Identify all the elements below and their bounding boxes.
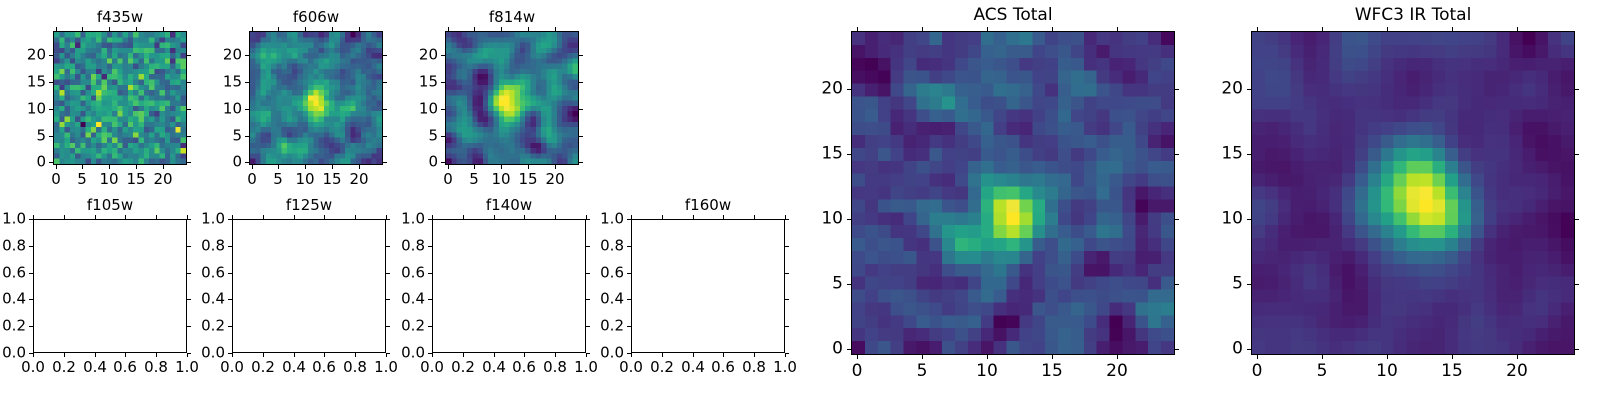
x-tick-mark	[693, 353, 694, 357]
figure-canvas: f435w0510152005101520 f606w0510152005101…	[0, 0, 1600, 400]
y-tick-mark-right	[187, 136, 191, 137]
y-tick-mark-right	[386, 273, 390, 274]
heatmap-image	[54, 32, 186, 164]
y-tick-mark-right	[785, 299, 789, 300]
x-tick-mark-top	[305, 27, 306, 31]
x-tick-mark-top	[232, 215, 233, 219]
x-tick-label: 10	[99, 172, 118, 187]
x-tick-mark-top	[64, 215, 65, 219]
y-tick-mark	[428, 326, 432, 327]
y-tick-mark-right	[1175, 154, 1179, 155]
y-tick-label: 0.8	[564, 239, 624, 254]
x-tick-mark	[156, 353, 157, 357]
y-tick-mark	[29, 353, 33, 354]
x-tick-mark-top	[1517, 27, 1518, 31]
x-tick-label: 10	[1376, 363, 1398, 380]
x-tick-label: 1.0	[574, 360, 598, 375]
y-tick-mark-right	[1175, 284, 1179, 285]
y-tick-mark-right	[785, 219, 789, 220]
y-tick-mark-right	[386, 219, 390, 220]
x-tick-label: 0.6	[312, 360, 336, 375]
x-tick-mark-top	[278, 27, 279, 31]
y-tick-mark-right	[383, 109, 387, 110]
y-tick-mark	[228, 326, 232, 327]
x-tick-label: 0.4	[83, 360, 107, 375]
x-tick-mark	[723, 353, 724, 357]
y-tick-mark	[1247, 219, 1251, 220]
x-tick-mark	[922, 355, 923, 359]
y-tick-mark-right	[187, 299, 191, 300]
panel-title: f105w	[33, 198, 187, 213]
x-tick-mark	[463, 353, 464, 357]
x-tick-mark	[125, 353, 126, 357]
y-tick-label: 0	[0, 155, 46, 170]
y-tick-mark	[428, 246, 432, 247]
x-tick-label: 0.2	[451, 360, 475, 375]
x-tick-mark	[501, 165, 502, 169]
y-tick-mark-right	[383, 82, 387, 83]
x-tick-mark-top	[494, 215, 495, 219]
x-tick-mark	[324, 353, 325, 357]
y-tick-mark-right	[1175, 89, 1179, 90]
x-tick-label: 0.0	[619, 360, 643, 375]
x-tick-mark	[163, 165, 164, 169]
y-tick-mark	[441, 109, 445, 110]
x-tick-mark	[33, 353, 34, 357]
y-tick-mark	[847, 154, 851, 155]
y-tick-mark	[627, 246, 631, 247]
y-tick-mark-right	[1575, 349, 1579, 350]
x-tick-mark-top	[474, 27, 475, 31]
y-tick-label: 5	[378, 129, 438, 144]
y-tick-mark	[29, 273, 33, 274]
y-tick-label: 20	[1183, 81, 1243, 98]
y-tick-mark	[627, 326, 631, 327]
y-tick-mark-right	[579, 82, 583, 83]
x-tick-mark-top	[463, 215, 464, 219]
y-tick-mark	[49, 162, 53, 163]
y-tick-mark	[49, 82, 53, 83]
y-tick-mark-right	[383, 162, 387, 163]
x-tick-label: 0.4	[681, 360, 705, 375]
panel-f160w: f160w0.00.20.40.60.81.00.00.20.40.60.81.…	[0, 0, 1600, 400]
y-tick-label: 15	[783, 146, 843, 163]
x-tick-mark-top	[163, 27, 164, 31]
y-tick-label: 0.2	[564, 319, 624, 334]
x-tick-mark-top	[56, 27, 57, 31]
x-tick-mark-top	[1257, 27, 1258, 31]
x-tick-mark	[187, 353, 188, 357]
heatmap-image	[446, 32, 578, 164]
x-tick-label: 1.0	[374, 360, 398, 375]
y-tick-mark	[245, 82, 249, 83]
y-tick-mark	[245, 162, 249, 163]
y-tick-label: 0.0	[165, 346, 225, 361]
y-tick-mark-right	[386, 299, 390, 300]
y-tick-mark-right	[785, 246, 789, 247]
x-tick-mark-top	[82, 27, 83, 31]
x-tick-label: 5	[1317, 363, 1328, 380]
y-tick-label: 20	[378, 48, 438, 63]
x-tick-label: 0.8	[543, 360, 567, 375]
y-tick-mark	[29, 219, 33, 220]
heatmap-image	[852, 32, 1174, 354]
x-tick-label: 5	[469, 172, 479, 187]
y-tick-mark	[1247, 154, 1251, 155]
y-tick-mark	[441, 82, 445, 83]
y-tick-mark-right	[187, 82, 191, 83]
x-tick-mark-top	[1052, 27, 1053, 31]
x-tick-mark-top	[324, 215, 325, 219]
x-tick-mark-top	[1117, 27, 1118, 31]
y-tick-mark-right	[579, 136, 583, 137]
x-tick-mark	[305, 165, 306, 169]
y-tick-mark-right	[187, 273, 191, 274]
y-tick-label: 10	[783, 211, 843, 228]
y-tick-label: 1.0	[165, 212, 225, 227]
x-tick-mark-top	[857, 27, 858, 31]
x-tick-mark-top	[263, 215, 264, 219]
y-tick-label: 10	[1183, 211, 1243, 228]
y-tick-label: 0	[1183, 341, 1243, 358]
y-tick-mark	[428, 299, 432, 300]
x-tick-mark	[82, 165, 83, 169]
y-tick-mark	[1247, 89, 1251, 90]
x-tick-mark-top	[448, 27, 449, 31]
y-tick-mark	[428, 219, 432, 220]
panel-title: ACS Total	[851, 7, 1175, 24]
x-tick-label: 0.4	[482, 360, 506, 375]
x-tick-mark-top	[555, 215, 556, 219]
y-tick-label: 0.8	[165, 239, 225, 254]
y-tick-label: 20	[783, 81, 843, 98]
x-tick-label: 15	[1041, 363, 1063, 380]
x-tick-mark	[1452, 355, 1453, 359]
x-tick-label: 1.0	[175, 360, 199, 375]
y-tick-mark-right	[187, 246, 191, 247]
x-tick-label: 0.2	[251, 360, 275, 375]
y-tick-label: 5	[182, 129, 242, 144]
x-tick-mark-top	[586, 215, 587, 219]
y-tick-label: 10	[378, 102, 438, 117]
x-tick-label: 20	[1506, 363, 1528, 380]
y-tick-label: 0	[783, 341, 843, 358]
y-tick-label: 20	[0, 48, 46, 63]
y-tick-mark-right	[187, 326, 191, 327]
x-tick-label: 0.8	[144, 360, 168, 375]
panel-f125w: f125w0.00.20.40.60.81.00.00.20.40.60.81.…	[0, 0, 1600, 400]
x-tick-mark	[524, 353, 525, 357]
x-tick-mark-top	[1452, 27, 1453, 31]
x-tick-label: 10	[295, 172, 314, 187]
x-tick-mark	[1387, 355, 1388, 359]
x-tick-mark-top	[386, 215, 387, 219]
y-tick-mark	[228, 246, 232, 247]
y-tick-mark-right	[586, 299, 590, 300]
x-tick-mark	[474, 165, 475, 169]
panel-wfc3-ir-total: WFC3 IR Total0510152005101520	[0, 0, 1600, 400]
x-tick-mark	[252, 165, 253, 169]
y-tick-mark	[847, 349, 851, 350]
y-tick-mark	[228, 273, 232, 274]
x-tick-label: 0.8	[742, 360, 766, 375]
x-tick-mark	[1052, 355, 1053, 359]
y-tick-mark-right	[187, 353, 191, 354]
y-tick-mark-right	[1575, 154, 1579, 155]
x-tick-mark	[555, 165, 556, 169]
y-tick-mark	[441, 136, 445, 137]
x-tick-mark	[432, 353, 433, 357]
axes-frame	[851, 31, 1175, 355]
y-tick-label: 0.4	[165, 292, 225, 307]
y-tick-mark-right	[579, 162, 583, 163]
y-tick-label: 0.0	[0, 346, 26, 361]
y-tick-label: 1.0	[365, 212, 425, 227]
y-tick-mark-right	[386, 353, 390, 354]
y-tick-label: 15	[0, 75, 46, 90]
y-tick-mark	[627, 353, 631, 354]
x-tick-mark-top	[754, 215, 755, 219]
y-tick-label: 15	[1183, 146, 1243, 163]
y-tick-mark-right	[187, 162, 191, 163]
y-tick-label: 10	[0, 102, 46, 117]
x-tick-label: 15	[322, 172, 341, 187]
y-tick-label: 0.8	[365, 239, 425, 254]
x-tick-label: 0	[51, 172, 61, 187]
y-tick-label: 0.2	[365, 319, 425, 334]
y-tick-mark-right	[1175, 349, 1179, 350]
x-tick-mark-top	[662, 215, 663, 219]
y-tick-label: 15	[182, 75, 242, 90]
x-tick-mark	[631, 353, 632, 357]
y-tick-mark	[228, 353, 232, 354]
axes-frame	[53, 31, 187, 165]
y-tick-mark	[228, 219, 232, 220]
y-tick-mark	[441, 162, 445, 163]
x-tick-label: 0.6	[113, 360, 137, 375]
y-tick-mark-right	[586, 219, 590, 220]
axes-frame	[33, 219, 187, 353]
panel-f105w: f105w0.00.20.40.60.81.00.00.20.40.60.81.…	[0, 0, 1600, 400]
y-tick-label: 0.0	[564, 346, 624, 361]
x-tick-mark-top	[156, 215, 157, 219]
y-tick-mark-right	[1575, 284, 1579, 285]
y-tick-mark	[49, 109, 53, 110]
panel-title: f125w	[232, 198, 386, 213]
y-tick-mark-right	[386, 246, 390, 247]
y-tick-mark	[847, 219, 851, 220]
panel-f435w: f435w0510152005101520	[0, 0, 1600, 400]
x-tick-label: 15	[518, 172, 537, 187]
x-tick-label: 20	[153, 172, 172, 187]
y-tick-label: 0.6	[0, 266, 26, 281]
x-tick-mark	[386, 353, 387, 357]
x-tick-mark-top	[109, 27, 110, 31]
y-tick-mark-right	[785, 353, 789, 354]
panel-title: f140w	[432, 198, 586, 213]
x-tick-mark-top	[631, 215, 632, 219]
x-tick-label: 0.0	[420, 360, 444, 375]
x-tick-label: 0.8	[343, 360, 367, 375]
y-tick-mark	[49, 55, 53, 56]
panel-title: f606w	[249, 10, 383, 25]
x-tick-mark-top	[33, 215, 34, 219]
axes-frame	[445, 31, 579, 165]
panel-f140w: f140w0.00.20.40.60.81.00.00.20.40.60.81.…	[0, 0, 1600, 400]
heatmap-image	[1252, 32, 1574, 354]
x-tick-label: 15	[1441, 363, 1463, 380]
x-tick-label: 0	[247, 172, 257, 187]
x-tick-mark	[555, 353, 556, 357]
x-tick-label: 1.0	[773, 360, 797, 375]
axes-frame	[1251, 31, 1575, 355]
x-tick-label: 0.2	[650, 360, 674, 375]
x-tick-mark	[232, 353, 233, 357]
y-tick-label: 10	[182, 102, 242, 117]
y-tick-mark	[1247, 284, 1251, 285]
x-tick-mark-top	[136, 27, 137, 31]
x-tick-mark-top	[524, 215, 525, 219]
y-tick-label: 15	[378, 75, 438, 90]
y-tick-mark-right	[383, 136, 387, 137]
x-tick-mark-top	[359, 27, 360, 31]
y-tick-mark-right	[586, 273, 590, 274]
y-tick-mark	[428, 353, 432, 354]
y-tick-label: 0.2	[165, 319, 225, 334]
x-tick-mark-top	[555, 27, 556, 31]
y-tick-mark	[245, 136, 249, 137]
y-tick-label: 0.6	[365, 266, 425, 281]
x-tick-label: 0.2	[52, 360, 76, 375]
x-tick-mark-top	[723, 215, 724, 219]
y-tick-mark-right	[586, 353, 590, 354]
y-tick-label: 0.8	[0, 239, 26, 254]
y-tick-mark	[29, 299, 33, 300]
x-tick-mark	[1257, 355, 1258, 359]
y-tick-mark	[428, 273, 432, 274]
x-tick-mark	[1517, 355, 1518, 359]
y-tick-mark	[627, 219, 631, 220]
x-tick-mark-top	[332, 27, 333, 31]
axes-frame	[432, 219, 586, 353]
x-tick-mark-top	[501, 27, 502, 31]
y-tick-label: 0.2	[0, 319, 26, 334]
x-tick-mark	[56, 165, 57, 169]
panel-acs-total: ACS Total0510152005101520	[0, 0, 1600, 400]
y-tick-mark	[245, 55, 249, 56]
y-tick-mark-right	[586, 326, 590, 327]
x-tick-mark	[109, 165, 110, 169]
x-tick-label: 15	[126, 172, 145, 187]
heatmap-image	[250, 32, 382, 164]
y-tick-label: 5	[783, 276, 843, 293]
y-tick-mark-right	[579, 109, 583, 110]
x-tick-mark	[857, 355, 858, 359]
y-tick-label: 20	[182, 48, 242, 63]
x-tick-mark	[586, 353, 587, 357]
y-tick-label: 0.0	[365, 346, 425, 361]
x-tick-mark	[64, 353, 65, 357]
x-tick-mark	[332, 165, 333, 169]
x-tick-mark	[1322, 355, 1323, 359]
x-tick-label: 20	[349, 172, 368, 187]
x-tick-mark-top	[95, 215, 96, 219]
y-tick-mark	[29, 326, 33, 327]
x-tick-label: 10	[976, 363, 998, 380]
y-tick-mark	[29, 246, 33, 247]
x-tick-mark-top	[432, 215, 433, 219]
x-tick-label: 5	[273, 172, 283, 187]
x-tick-label: 0.0	[220, 360, 244, 375]
y-tick-mark	[441, 55, 445, 56]
panel-title: f814w	[445, 10, 579, 25]
y-tick-mark	[627, 299, 631, 300]
y-tick-mark-right	[586, 246, 590, 247]
x-tick-label: 20	[545, 172, 564, 187]
x-tick-mark	[278, 165, 279, 169]
x-tick-mark	[294, 353, 295, 357]
y-tick-mark-right	[1175, 219, 1179, 220]
y-tick-label: 0.4	[365, 292, 425, 307]
x-tick-mark	[662, 353, 663, 357]
x-tick-mark	[95, 353, 96, 357]
x-tick-mark-top	[1322, 27, 1323, 31]
panel-title: f435w	[53, 10, 187, 25]
y-tick-label: 0.4	[564, 292, 624, 307]
x-tick-mark	[1117, 355, 1118, 359]
x-tick-mark-top	[187, 215, 188, 219]
y-tick-label: 0	[378, 155, 438, 170]
y-tick-label: 0.4	[0, 292, 26, 307]
y-tick-mark-right	[383, 55, 387, 56]
x-tick-mark	[355, 353, 356, 357]
x-tick-mark-top	[294, 215, 295, 219]
y-tick-mark-right	[1575, 89, 1579, 90]
y-tick-label: 1.0	[564, 212, 624, 227]
y-tick-mark	[1247, 349, 1251, 350]
panel-f814w: f814w0510152005101520	[0, 0, 1600, 400]
x-tick-label: 0	[1252, 363, 1263, 380]
y-tick-label: 1.0	[0, 212, 26, 227]
y-tick-mark-right	[785, 326, 789, 327]
axes-frame	[249, 31, 383, 165]
x-tick-mark-top	[987, 27, 988, 31]
y-tick-mark-right	[1575, 219, 1579, 220]
x-tick-label: 0	[443, 172, 453, 187]
y-tick-mark	[228, 299, 232, 300]
panel-title: f160w	[631, 198, 785, 213]
x-tick-mark	[263, 353, 264, 357]
x-tick-label: 10	[491, 172, 510, 187]
axes-frame	[631, 219, 785, 353]
x-tick-mark	[754, 353, 755, 357]
y-tick-label: 0.6	[564, 266, 624, 281]
x-tick-mark-top	[693, 215, 694, 219]
x-tick-label: 0.6	[512, 360, 536, 375]
x-tick-mark-top	[252, 27, 253, 31]
x-tick-mark	[987, 355, 988, 359]
y-tick-label: 0.6	[165, 266, 225, 281]
y-tick-mark	[49, 136, 53, 137]
y-tick-mark-right	[386, 326, 390, 327]
y-tick-mark-right	[187, 109, 191, 110]
x-tick-label: 0.4	[282, 360, 306, 375]
y-tick-mark-right	[187, 219, 191, 220]
x-tick-label: 0	[852, 363, 863, 380]
x-tick-label: 5	[77, 172, 87, 187]
x-tick-mark-top	[355, 215, 356, 219]
y-tick-label: 0	[182, 155, 242, 170]
